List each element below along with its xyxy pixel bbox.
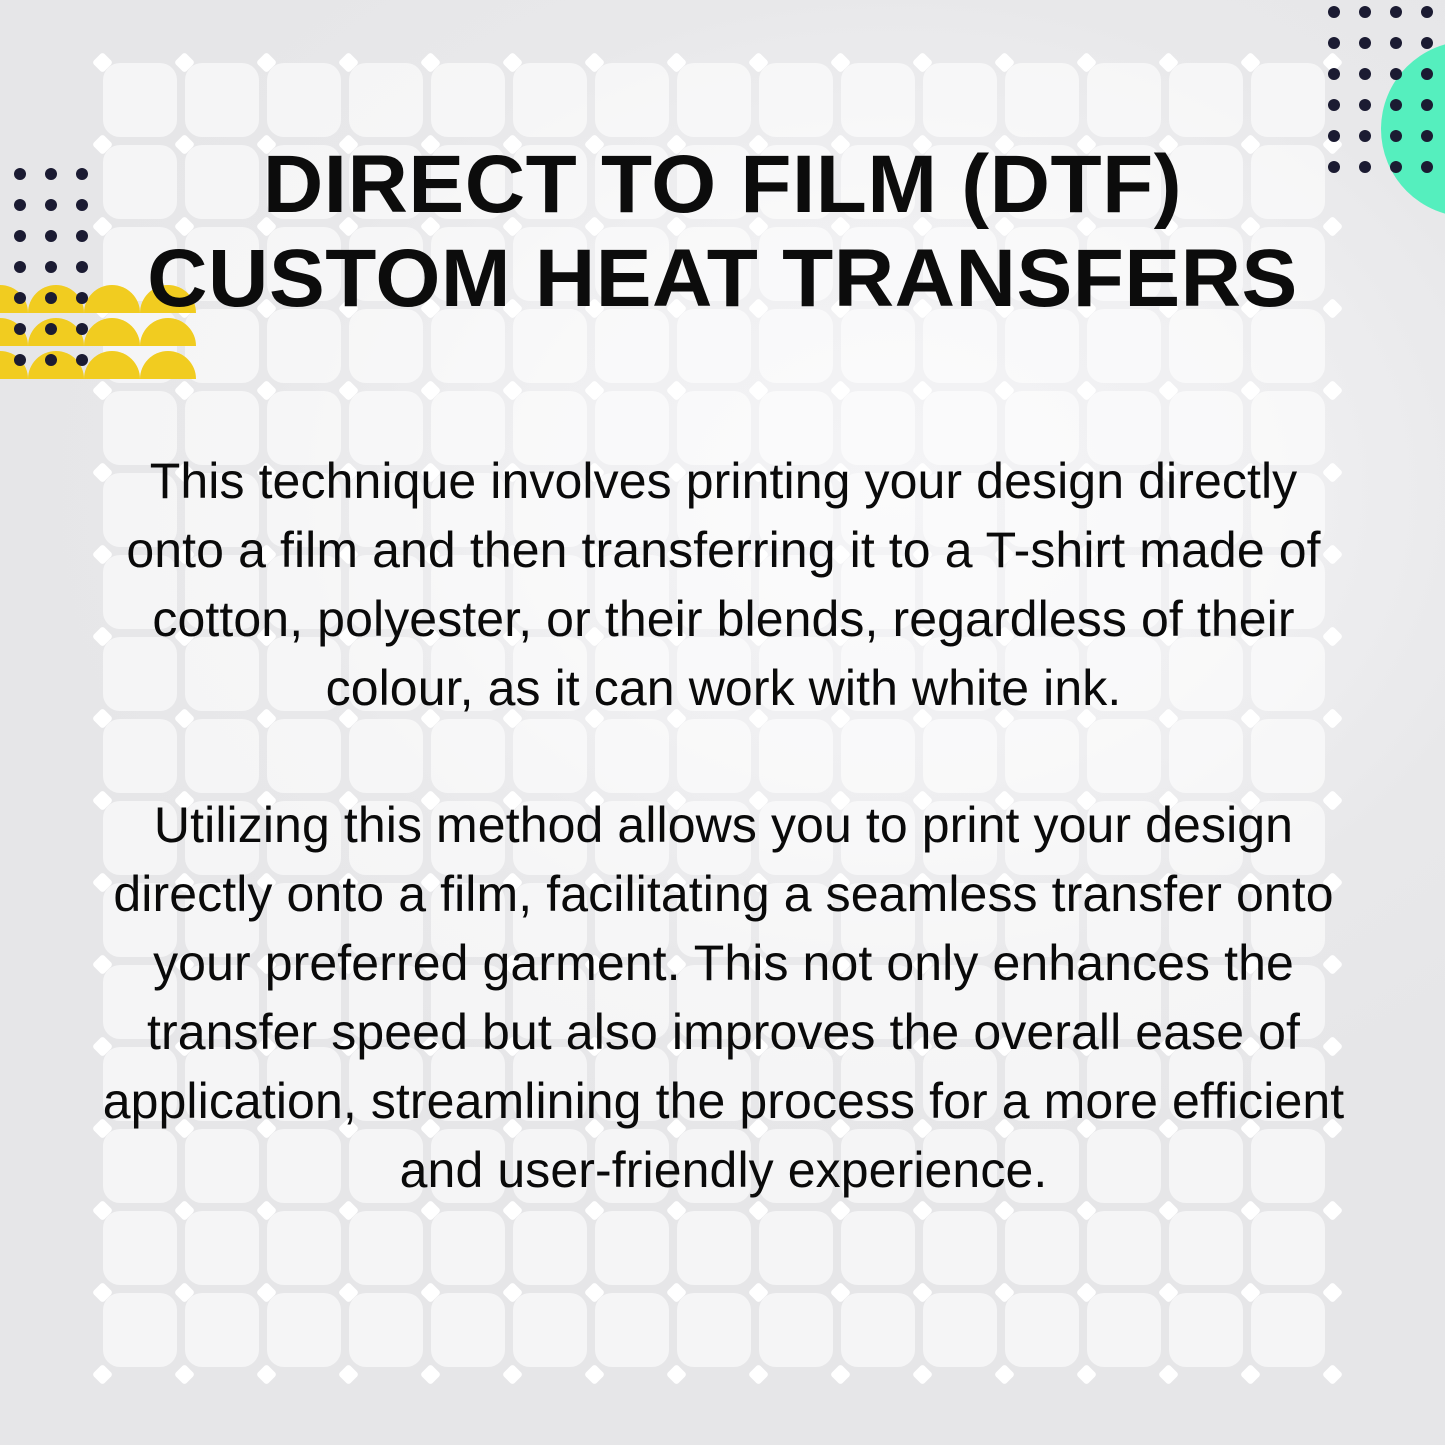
body-copy: This technique involves printing your de… bbox=[96, 447, 1351, 1205]
paragraph-1: This technique involves printing your de… bbox=[96, 447, 1351, 723]
poster-content: DIRECT TO FILM (DTF) CUSTOM HEAT TRANSFE… bbox=[0, 0, 1445, 1445]
page-title: DIRECT TO FILM (DTF) CUSTOM HEAT TRANSFE… bbox=[118, 138, 1327, 326]
title-line-2: CUSTOM HEAT TRANSFERS bbox=[118, 232, 1327, 326]
title-line-1: DIRECT TO FILM (DTF) bbox=[118, 138, 1327, 232]
poster-canvas: DIRECT TO FILM (DTF) CUSTOM HEAT TRANSFE… bbox=[0, 0, 1445, 1445]
paragraph-2: Utilizing this method allows you to prin… bbox=[96, 791, 1351, 1205]
